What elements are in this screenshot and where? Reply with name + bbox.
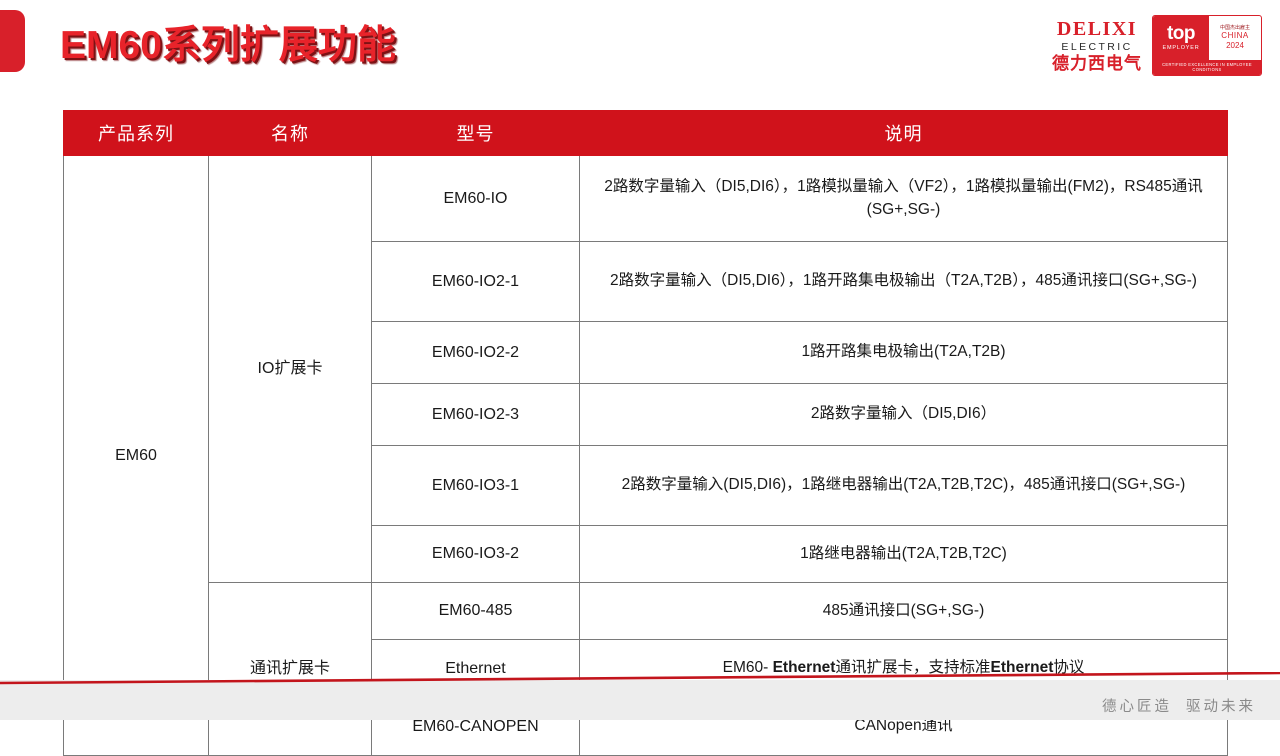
delixi-name-en: DELIXI bbox=[1052, 19, 1142, 39]
top-employer-badge: top EMPLOYER 中国杰出雇主 CHINA 2024 CERTIFIED… bbox=[1152, 15, 1262, 76]
footer-band bbox=[0, 680, 1280, 720]
cell-model: EM60-IO bbox=[372, 156, 580, 242]
table-header-row: 产品系列 名称 型号 说明 bbox=[64, 111, 1228, 156]
footer-line-svg bbox=[0, 672, 1280, 686]
top-left-accent-bar bbox=[0, 10, 25, 72]
column-header-description: 说明 bbox=[580, 111, 1228, 156]
cell-model: EM60-IO3-2 bbox=[372, 526, 580, 583]
top-employer-badge-main: top EMPLOYER 中国杰出雇主 CHINA 2024 bbox=[1153, 16, 1261, 60]
cell-description: 2路数字量输入（DI5,DI6），1路开路集电极输出（T2A,T2B），485通… bbox=[580, 242, 1228, 322]
table-body: EM60 IO扩展卡 EM60-IO 2路数字量输入（DI5,DI6），1路模拟… bbox=[64, 156, 1228, 756]
column-header-name: 名称 bbox=[209, 111, 372, 156]
top-employer-year: 2024 bbox=[1226, 41, 1244, 51]
brand-logo: DELIXI ELECTRIC 德力西电气 top EMPLOYER 中国杰出雇… bbox=[1052, 15, 1262, 76]
footer-slogan-left: 德心匠造 bbox=[1102, 699, 1172, 715]
top-employer-word-top: top bbox=[1167, 25, 1195, 42]
page-title: EM60系列扩展功能 bbox=[60, 21, 396, 71]
top-employer-word-employer: EMPLOYER bbox=[1163, 45, 1200, 51]
cell-description: 2路数字量输入（DI5,DI6），1路模拟量输入（VF2），1路模拟量输出(FM… bbox=[580, 156, 1228, 242]
column-header-series: 产品系列 bbox=[64, 111, 209, 156]
cell-description: 1路开路集电极输出(T2A,T2B) bbox=[580, 322, 1228, 384]
delixi-name-cn: 德力西电气 bbox=[1052, 55, 1142, 72]
top-employer-mark: top EMPLOYER bbox=[1153, 16, 1209, 60]
delixi-logo: DELIXI ELECTRIC 德力西电气 bbox=[1052, 19, 1142, 73]
cell-product-series: EM60 bbox=[64, 156, 209, 756]
cell-group-name-comm: 通讯扩展卡 bbox=[209, 583, 372, 756]
footer-accent-line bbox=[0, 672, 1280, 686]
cell-model: EM60-IO3-1 bbox=[372, 446, 580, 526]
top-employer-country: CHINA bbox=[1221, 31, 1248, 41]
top-employer-certified-strip: CERTIFIED EXCELLENCE IN EMPLOYEE CONDITI… bbox=[1153, 60, 1261, 75]
cell-description: 2路数字量输入（DI5,DI6） bbox=[580, 384, 1228, 446]
cell-description: 2路数字量输入(DI5,DI6)，1路继电器输出(T2A,T2B,T2C)，48… bbox=[580, 446, 1228, 526]
column-header-model: 型号 bbox=[372, 111, 580, 156]
cell-description: 485通讯接口(SG+,SG-) bbox=[580, 583, 1228, 640]
table-head: 产品系列 名称 型号 说明 bbox=[64, 111, 1228, 156]
cell-model: EM60-IO2-2 bbox=[372, 322, 580, 384]
table-row: 通讯扩展卡 EM60-485 485通讯接口(SG+,SG-) bbox=[64, 583, 1228, 640]
delixi-sub-en: ELECTRIC bbox=[1052, 42, 1142, 53]
cell-model: EM60-IO2-1 bbox=[372, 242, 580, 322]
table-row: EM60 IO扩展卡 EM60-IO 2路数字量输入（DI5,DI6），1路模拟… bbox=[64, 156, 1228, 242]
top-employer-details: 中国杰出雇主 CHINA 2024 bbox=[1209, 16, 1261, 60]
footer-slogan: 德心匠造驱动未来 bbox=[1102, 695, 1256, 716]
footer-slogan-right: 驱动未来 bbox=[1186, 699, 1256, 715]
cell-model: EM60-IO2-3 bbox=[372, 384, 580, 446]
cell-description: 1路继电器输出(T2A,T2B,T2C) bbox=[580, 526, 1228, 583]
cell-group-name-io: IO扩展卡 bbox=[209, 156, 372, 583]
cell-model: EM60-485 bbox=[372, 583, 580, 640]
expansion-spec-table: 产品系列 名称 型号 说明 EM60 IO扩展卡 EM60-IO 2路数字量输入… bbox=[63, 110, 1228, 756]
